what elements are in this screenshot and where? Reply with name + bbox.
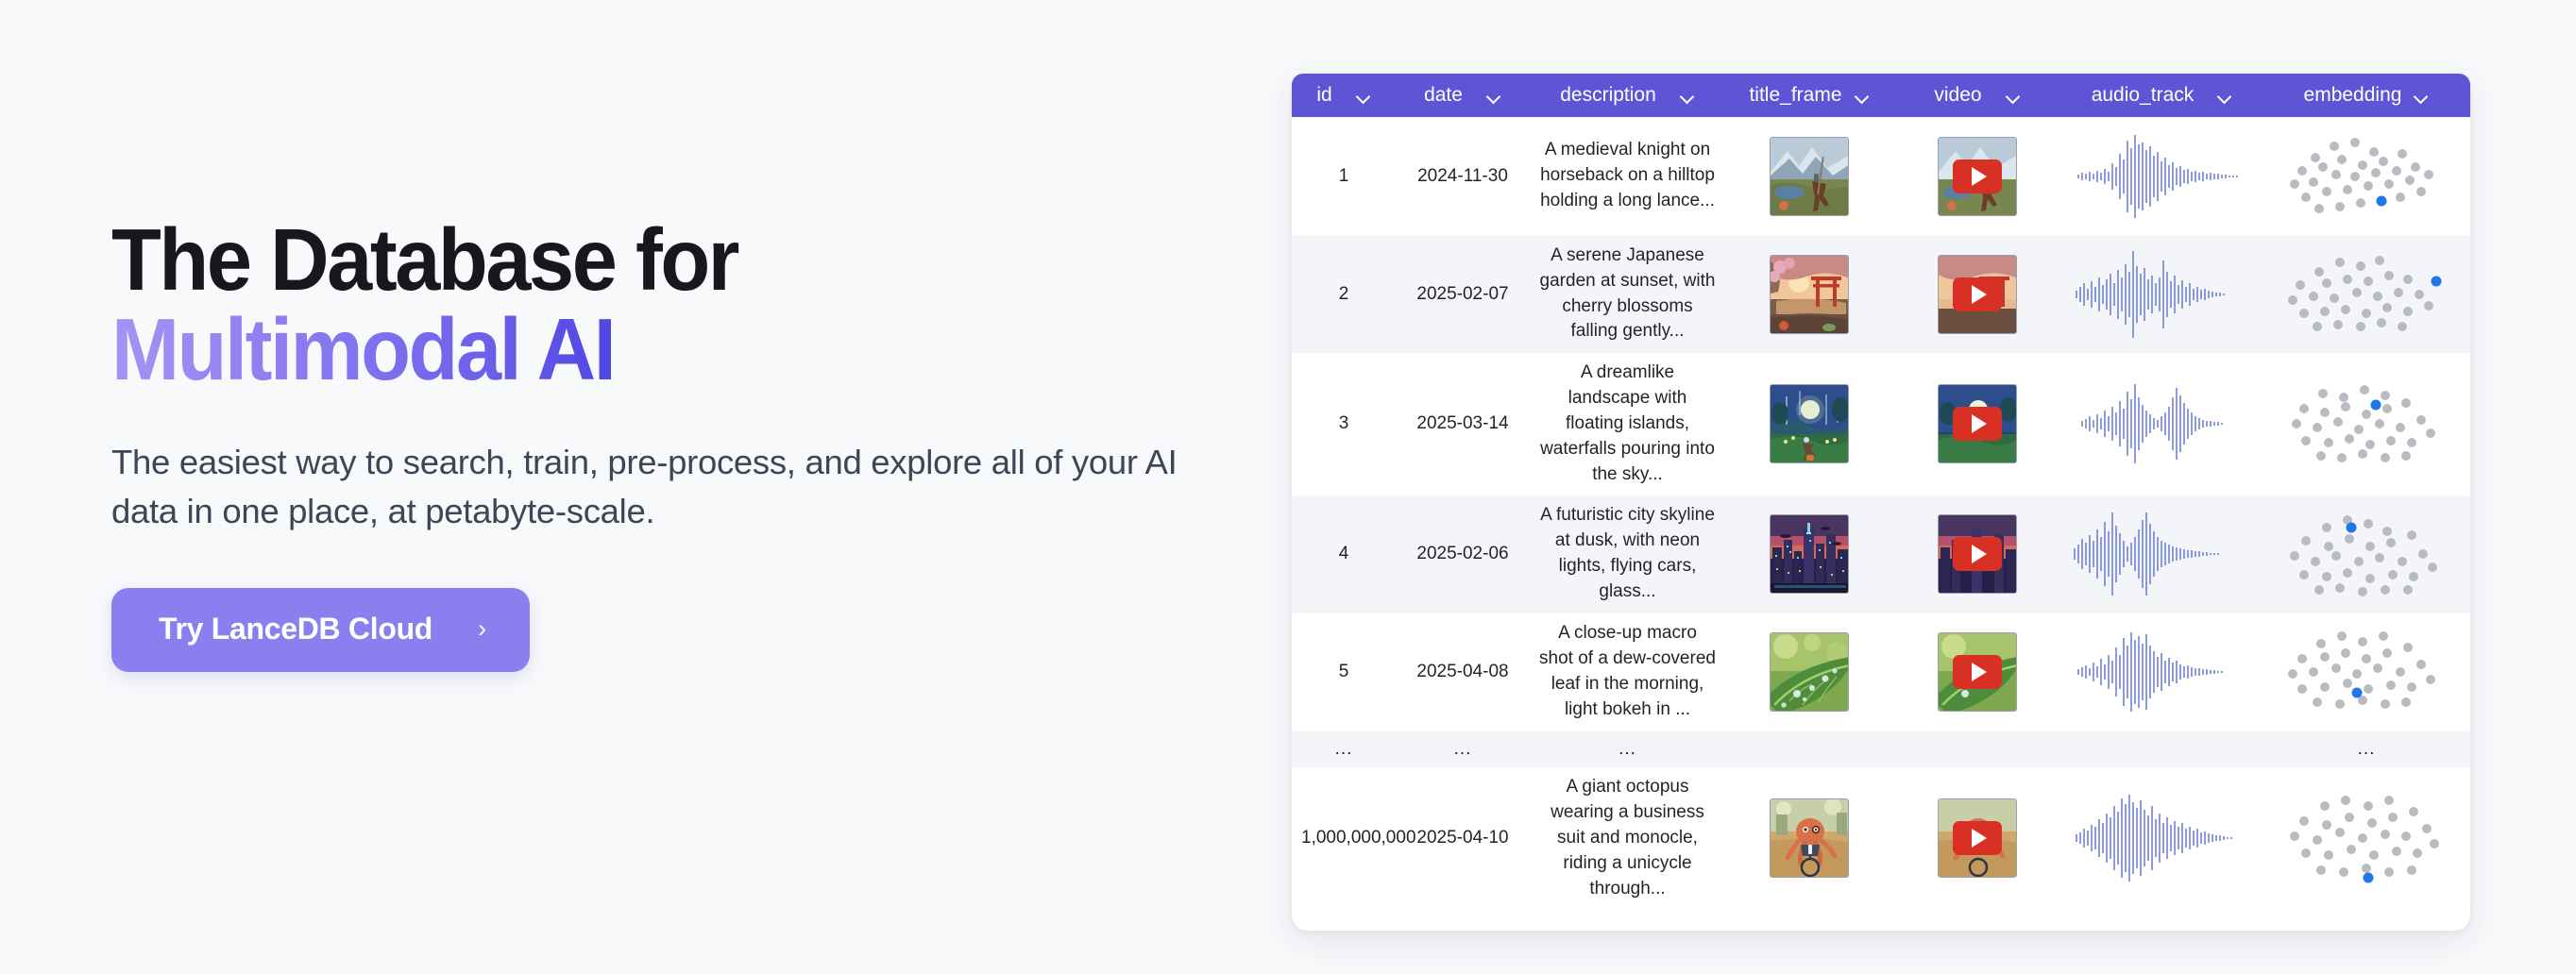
cell-audio-track[interactable] xyxy=(2061,613,2262,731)
dew-leaf-video-thumbnail[interactable] xyxy=(1938,632,2017,712)
column-label: date xyxy=(1424,84,1463,107)
scatter-points xyxy=(2290,796,2439,877)
cell-title-frame[interactable] xyxy=(1725,767,1893,910)
audio-waveform xyxy=(2073,249,2252,340)
cta-label: Try LanceDB Cloud xyxy=(159,612,432,647)
cell-audio-track[interactable] xyxy=(2061,767,2262,910)
waveform-lines xyxy=(2078,135,2241,218)
column-label: video xyxy=(1934,84,1981,107)
scatter-points xyxy=(2292,385,2435,462)
cell-date: 2024-11-30 xyxy=(1396,117,1530,235)
column-header-title-frame[interactable]: title_frame xyxy=(1725,74,1893,117)
japanese-garden-thumbnail[interactable] xyxy=(1770,255,1849,334)
audio-waveform xyxy=(2073,378,2252,469)
cell-embedding[interactable] xyxy=(2262,613,2470,731)
table-row[interactable]: 4 2025-02-06 A futuristic city skyline a… xyxy=(1292,495,2470,613)
cell-title-frame[interactable] xyxy=(1725,117,1893,235)
knight-on-horseback-thumbnail[interactable] xyxy=(1770,137,1849,216)
multimodal-data-table: id date description xyxy=(1292,74,2470,910)
column-label: description xyxy=(1560,84,1656,107)
table-row[interactable]: 1 2024-11-30 A medieval knight on horseb… xyxy=(1292,117,2470,235)
hero-subtitle: The easiest way to search, train, pre-pr… xyxy=(111,438,1178,536)
column-header-date[interactable]: date xyxy=(1396,74,1530,117)
ellipsis-title-frame xyxy=(1725,731,1893,767)
embedding-scatter-plot xyxy=(2281,129,2451,224)
cell-video[interactable] xyxy=(1893,767,2061,910)
cell-audio-track[interactable] xyxy=(2061,353,2262,495)
play-button-icon[interactable] xyxy=(1953,160,2002,193)
try-lancedb-cloud-button[interactable]: Try LanceDB Cloud › xyxy=(111,588,530,672)
cell-description: A dreamlike landscape with floating isla… xyxy=(1530,353,1725,495)
column-header-description[interactable]: description xyxy=(1530,74,1725,117)
embedding-scatter-plot xyxy=(2281,625,2451,719)
cell-embedding[interactable] xyxy=(2262,353,2470,495)
cell-video[interactable] xyxy=(1893,117,2061,235)
cell-description: A close-up macro shot of a dew-covered l… xyxy=(1530,613,1725,731)
chevron-down-icon[interactable] xyxy=(1681,92,1695,100)
chevron-down-icon[interactable] xyxy=(1487,92,1501,100)
cell-date: 2025-03-14 xyxy=(1396,353,1530,495)
octopus-unicycle-video-thumbnail[interactable] xyxy=(1938,798,2017,878)
column-label: id xyxy=(1316,84,1331,107)
cell-title-frame[interactable] xyxy=(1725,353,1893,495)
ellipsis-video xyxy=(1893,731,2061,767)
play-button-icon[interactable] xyxy=(1953,821,2002,855)
cell-date: 2025-02-06 xyxy=(1396,495,1530,613)
data-table-card: id date description xyxy=(1292,74,2470,931)
chevron-down-icon[interactable] xyxy=(2007,92,2021,100)
japanese-garden-video-thumbnail[interactable] xyxy=(1938,255,2017,334)
highlighted-point xyxy=(2347,523,2357,533)
column-header-id[interactable]: id xyxy=(1292,74,1396,117)
octopus-unicycle-thumbnail[interactable] xyxy=(1770,798,1849,878)
column-header-embedding[interactable]: embedding xyxy=(2262,74,2470,117)
cell-audio-track[interactable] xyxy=(2061,495,2262,613)
waveform-lines xyxy=(2082,384,2222,463)
ellipsis-description: ... xyxy=(1530,731,1725,767)
scatter-points xyxy=(2288,631,2435,709)
cell-date: 2025-04-08 xyxy=(1396,613,1530,731)
scatter-points xyxy=(2290,515,2437,596)
cell-video[interactable] xyxy=(1893,353,2061,495)
table-body: 1 2024-11-30 A medieval knight on horseb… xyxy=(1292,117,2470,910)
play-button-icon[interactable] xyxy=(1953,277,2002,311)
chevron-down-icon[interactable] xyxy=(2218,92,2232,100)
chevron-down-icon[interactable] xyxy=(1856,92,1870,100)
table-row[interactable]: 3 2025-03-14 A dreamlike landscape with … xyxy=(1292,353,2470,495)
table-row[interactable]: 2 2025-02-07 A serene Japanese garden at… xyxy=(1292,235,2470,353)
cell-video[interactable] xyxy=(1893,613,2061,731)
cell-id: 1,000,000,000 xyxy=(1292,767,1396,910)
highlighted-point xyxy=(2364,873,2374,883)
column-label: title_frame xyxy=(1749,84,1841,107)
page-title-line2: Multimodal AI xyxy=(111,305,614,395)
cell-audio-track[interactable] xyxy=(2061,235,2262,353)
cell-video[interactable] xyxy=(1893,235,2061,353)
dreamlike-landscape-video-thumbnail[interactable] xyxy=(1938,384,2017,463)
table-row[interactable]: 5 2025-04-08 A close-up macro shot of a … xyxy=(1292,613,2470,731)
chevron-down-icon[interactable] xyxy=(1357,92,1371,100)
page-title: The Database for Multimodal AI xyxy=(111,215,1130,395)
cell-video[interactable] xyxy=(1893,495,2061,613)
waveform-lines xyxy=(2078,632,2226,712)
knight-video-thumbnail[interactable] xyxy=(1938,137,2017,216)
scatter-points xyxy=(2290,138,2433,213)
ellipsis-audio-track xyxy=(2061,731,2262,767)
waveform-lines xyxy=(2076,251,2224,338)
table-header: id date description xyxy=(1292,74,2470,117)
cell-embedding[interactable] xyxy=(2262,495,2470,613)
play-button-icon[interactable] xyxy=(1953,407,2002,441)
embedding-scatter-plot xyxy=(2281,377,2451,471)
cell-title-frame[interactable] xyxy=(1725,235,1893,353)
cell-description: A medieval knight on horseback on a hill… xyxy=(1530,117,1725,235)
waveform-lines xyxy=(2075,512,2222,596)
page-title-line1: The Database for xyxy=(111,210,737,309)
ellipsis-embedding: ... xyxy=(2262,731,2470,767)
audio-waveform xyxy=(2073,131,2252,222)
highlighted-point xyxy=(2432,276,2442,286)
highlighted-point xyxy=(2371,400,2381,411)
column-header-audio-track[interactable]: audio_track xyxy=(2061,74,2262,117)
cell-audio-track[interactable] xyxy=(2061,117,2262,235)
column-label: embedding xyxy=(2304,84,2402,107)
waveform-lines xyxy=(2076,795,2231,882)
play-button-icon[interactable] xyxy=(1953,537,2002,571)
embedding-scatter-plot xyxy=(2281,507,2451,601)
chevron-right-icon: › xyxy=(478,616,486,642)
cell-title-frame[interactable] xyxy=(1725,613,1893,731)
dew-leaf-thumbnail[interactable] xyxy=(1770,632,1849,712)
cell-description: A giant octopus wearing a business suit … xyxy=(1530,767,1725,910)
ellipsis-date: ... xyxy=(1396,731,1530,767)
scatter-points xyxy=(2288,256,2433,331)
audio-waveform xyxy=(2073,509,2252,599)
cell-id: 3 xyxy=(1292,353,1396,495)
table-row[interactable]: 1,000,000,000 2025-04-10 A giant octopus… xyxy=(1292,767,2470,910)
audio-waveform xyxy=(2073,793,2252,883)
landing-page: The Database for Multimodal AI The easie… xyxy=(0,0,2576,974)
chevron-down-icon[interactable] xyxy=(2415,92,2429,100)
table-row-ellipsis: ... ... ... ... xyxy=(1292,731,2470,767)
cell-id: 1 xyxy=(1292,117,1396,235)
cell-id: 5 xyxy=(1292,613,1396,731)
column-header-video[interactable]: video xyxy=(1893,74,2061,117)
cell-description: A serene Japanese garden at sunset, with… xyxy=(1530,235,1725,353)
ellipsis-id: ... xyxy=(1292,731,1396,767)
embedding-scatter-plot xyxy=(2281,247,2451,342)
cell-description: A futuristic city skyline at dusk, with … xyxy=(1530,495,1725,613)
cell-embedding[interactable] xyxy=(2262,235,2470,353)
cell-date: 2025-02-07 xyxy=(1396,235,1530,353)
cell-embedding[interactable] xyxy=(2262,767,2470,910)
highlighted-point xyxy=(2377,195,2387,206)
cell-embedding[interactable] xyxy=(2262,117,2470,235)
highlighted-point xyxy=(2352,688,2363,698)
play-button-icon[interactable] xyxy=(1953,655,2002,689)
embedding-scatter-plot xyxy=(2281,791,2451,885)
cell-id: 4 xyxy=(1292,495,1396,613)
futuristic-city-video-thumbnail[interactable] xyxy=(1938,514,2017,594)
cell-title-frame[interactable] xyxy=(1725,495,1893,613)
audio-waveform xyxy=(2073,627,2252,717)
dreamlike-landscape-thumbnail[interactable] xyxy=(1770,384,1849,463)
cell-id: 2 xyxy=(1292,235,1396,353)
hero-section: The Database for Multimodal AI The easie… xyxy=(111,215,1207,672)
column-label: audio_track xyxy=(2092,84,2195,107)
futuristic-city-thumbnail[interactable] xyxy=(1770,514,1849,594)
